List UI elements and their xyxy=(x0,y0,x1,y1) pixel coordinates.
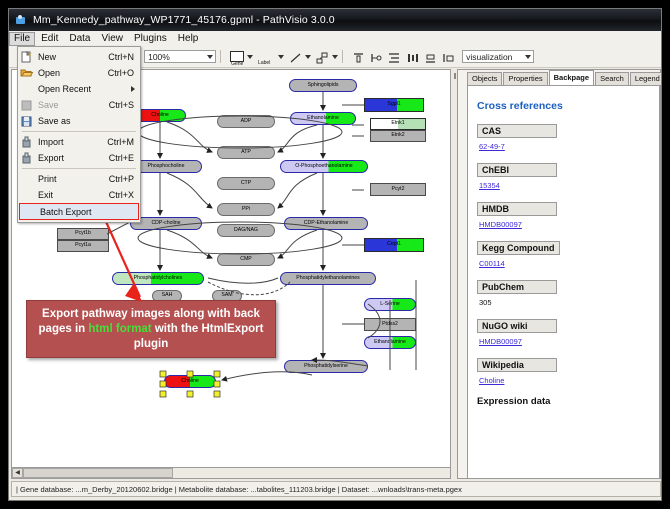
cross-reference-item: WikipediaCholine xyxy=(477,355,659,385)
menu-separator xyxy=(22,131,136,132)
cross-reference-value: 305 xyxy=(479,298,659,307)
menu-item-label: Save xyxy=(38,100,109,110)
file-menu-item-open-recent[interactable]: Open Recent xyxy=(18,81,140,97)
cross-reference-link[interactable]: 62-49-7 xyxy=(479,142,659,151)
menu-item-shortcut: Ctrl+O xyxy=(108,68,140,78)
menu-view[interactable]: View xyxy=(96,32,128,46)
cross-reference-source: PubChem xyxy=(477,280,557,294)
pathway-node-label: CDP-Ethanolamine xyxy=(304,221,348,226)
cross-reference-item: Kegg CompoundC00114 xyxy=(477,238,659,268)
tab-search[interactable]: Search xyxy=(595,72,629,85)
cross-reference-list: CAS62-49-7ChEBI15354HMDBHMDB00097Kegg Co… xyxy=(468,121,659,385)
pathway-node-label: Choline xyxy=(151,113,169,118)
pathway-node[interactable]: Etnk2 xyxy=(370,130,426,142)
menu-item-shortcut: Ctrl+E xyxy=(109,153,140,163)
pathway-node-label: Etnk2 xyxy=(391,133,404,138)
pathway-node-label: Cept1 xyxy=(387,242,401,247)
menu-item-label: Import xyxy=(38,137,107,147)
application-window: Mm_Kennedy_pathway_WP1771_45176.gpml - P… xyxy=(8,8,662,501)
cross-reference-source: ChEBI xyxy=(477,163,557,177)
pathway-node-label: CDP-choline xyxy=(151,221,180,226)
window-title: Mm_Kennedy_pathway_WP1771_45176.gpml - P… xyxy=(33,14,335,26)
cross-reference-link[interactable]: HMDB00097 xyxy=(479,337,659,346)
expression-data-title: Expression data xyxy=(477,396,659,407)
no-icon xyxy=(20,173,35,186)
pathway-node-label: Pcyt1b xyxy=(75,231,91,236)
pathway-node[interactable]: Phosphatidylcholines xyxy=(112,272,204,285)
align-left-button[interactable] xyxy=(370,51,383,63)
cross-reference-link[interactable]: Choline xyxy=(479,376,659,385)
pathway-node-label: Ethanolamine xyxy=(374,340,406,345)
annotation-callout: Export pathway images along with back pa… xyxy=(26,300,276,358)
cross-reference-source: Wikipedia xyxy=(477,358,557,372)
pathway-node-label: L-Serine xyxy=(380,302,400,307)
chevron-down-icon[interactable] xyxy=(247,55,253,59)
cross-references-title: Cross references xyxy=(477,100,659,112)
pathway-node[interactable]: Pcyt1b xyxy=(57,228,109,240)
cross-reference-item: HMDBHMDB00097 xyxy=(477,199,659,229)
align-center-icon xyxy=(406,51,419,63)
scroll-left-button[interactable]: ◀ xyxy=(12,468,23,478)
import-icon xyxy=(20,136,35,149)
file-menu-item-import[interactable]: ImportCtrl+M xyxy=(18,134,140,150)
cross-reference-item: CAS62-49-7 xyxy=(477,121,659,151)
zoom-value: 100% xyxy=(148,52,170,62)
align-bottom-button[interactable] xyxy=(424,51,437,63)
open-folder-icon xyxy=(20,67,35,80)
chevron-down-icon[interactable] xyxy=(278,55,284,59)
save-icon xyxy=(20,99,35,112)
pathway-node-label: Choline xyxy=(181,379,199,384)
cross-reference-item: NuGO wikiHMDB00097 xyxy=(477,316,659,346)
menu-item-shortcut: Ctrl+S xyxy=(109,100,140,110)
cross-reference-item: PubChem305 xyxy=(477,277,659,307)
file-menu-item-export[interactable]: ExportCtrl+E xyxy=(18,150,140,166)
callout-text: Export pathway images along with back pa… xyxy=(33,307,269,352)
pathway-node[interactable]: Pcyt1a xyxy=(57,240,109,252)
menu-file[interactable]: File xyxy=(9,32,35,46)
pathway-node[interactable]: ADP xyxy=(217,115,275,128)
datanode-icon: Gene xyxy=(230,51,244,62)
pathway-node[interactable]: Cept1 xyxy=(364,238,424,252)
pathway-node[interactable]: Ethanolamine xyxy=(364,336,416,349)
tab-objects[interactable]: Objects xyxy=(467,72,502,85)
backpage-content: Cross references CAS62-49-7ChEBI15354HMD… xyxy=(467,85,660,479)
menu-item-label: Export xyxy=(38,153,109,163)
pathway-node-label: PPi xyxy=(242,207,250,212)
menu-item-label: Batch Export xyxy=(40,207,132,217)
menu-data[interactable]: Data xyxy=(64,32,95,46)
chevron-down-icon xyxy=(207,55,213,59)
pathway-node-label: Etnk1 xyxy=(391,121,404,126)
cross-reference-source: Kegg Compound xyxy=(477,241,560,255)
common-width-icon xyxy=(442,51,455,63)
pathway-node[interactable]: CTP xyxy=(217,177,275,190)
chevron-down-icon[interactable] xyxy=(305,55,311,59)
visualization-combobox[interactable]: visualization xyxy=(462,50,534,63)
pathway-node-label: ATP xyxy=(241,150,251,155)
line-icon xyxy=(289,51,302,63)
no-icon xyxy=(20,189,35,202)
pathway-node[interactable]: Pcyt2 xyxy=(370,183,426,196)
align-stack-button[interactable] xyxy=(388,51,401,63)
file-menu-dropdown[interactable]: NewCtrl+NOpenCtrl+OOpen RecentSaveCtrl+S… xyxy=(17,46,141,223)
menu-item-label: Exit xyxy=(38,190,109,200)
menu-help[interactable]: Help xyxy=(173,32,204,46)
pathway-node-label: Phosphocholine xyxy=(148,164,185,169)
pathway-node-label: SAH xyxy=(162,293,173,298)
align-stack-icon xyxy=(388,51,401,63)
menu-separator xyxy=(22,168,136,169)
file-menu-item-print[interactable]: PrintCtrl+P xyxy=(18,171,140,187)
file-menu-item-new[interactable]: NewCtrl+N xyxy=(18,49,140,65)
pathway-node[interactable]: Sphingolipids xyxy=(289,79,357,92)
save-as-icon xyxy=(20,115,35,128)
pathway-node[interactable]: PPi xyxy=(217,203,275,216)
pathway-node-label: O-Phosphoethanolamine xyxy=(295,164,352,169)
pathway-node-label: Pcyt1a xyxy=(75,243,91,248)
menu-item-label: Save as xyxy=(38,116,134,126)
align-top-button[interactable] xyxy=(352,51,365,63)
pathway-node-label: Phosphatidylethanolamines xyxy=(296,276,359,281)
pathway-node-label: SAM xyxy=(221,293,232,298)
chevron-down-icon[interactable] xyxy=(332,55,338,59)
datanode-tool-button[interactable]: Gene xyxy=(230,51,253,62)
shape-icon xyxy=(316,51,329,63)
side-panel: Objects Properties Backpage Search Legen… xyxy=(457,69,661,479)
new-file-icon xyxy=(20,51,35,64)
menu-item-shortcut: Ctrl+P xyxy=(109,174,140,184)
file-menu-item-save-as[interactable]: Save as xyxy=(18,113,140,129)
cross-reference-item: ChEBI15354 xyxy=(477,160,659,190)
scrollbar-thumb[interactable] xyxy=(23,468,173,478)
line-tool-button[interactable] xyxy=(289,51,311,63)
canvas-horizontal-scrollbar[interactable]: ◀ xyxy=(11,467,451,479)
common-width-button[interactable] xyxy=(442,51,455,63)
no-icon xyxy=(22,205,37,218)
callout-text-highlight: html format xyxy=(88,323,151,335)
pathway-node[interactable]: Phosphatidylethanolamines xyxy=(280,272,376,285)
pathway-node[interactable]: L-Serine xyxy=(364,298,416,311)
toolbar-separator xyxy=(220,50,221,63)
cross-reference-source: CAS xyxy=(477,124,557,138)
cross-reference-link[interactable]: HMDB00097 xyxy=(479,220,659,229)
label-tool-button[interactable]: Label xyxy=(258,51,284,63)
zoom-combobox[interactable]: 100% xyxy=(144,50,216,63)
align-bottom-icon xyxy=(424,51,437,63)
cross-reference-link[interactable]: C00114 xyxy=(479,259,659,268)
pathway-node-label: Ethanolamine xyxy=(307,116,339,121)
tab-legend[interactable]: Legend xyxy=(630,72,662,85)
pathvisio-icon xyxy=(15,14,27,26)
tab-properties[interactable]: Properties xyxy=(503,72,547,85)
pathway-node-label: CTP xyxy=(241,181,251,186)
chevron-right-icon xyxy=(131,86,135,92)
menu-item-label: New xyxy=(38,52,108,62)
menu-item-label: Print xyxy=(38,174,109,184)
pathway-node[interactable]: O-Phosphoethanolamine xyxy=(280,160,368,173)
export-icon xyxy=(20,152,35,165)
pathway-node[interactable]: CDP-Ethanolamine xyxy=(284,217,368,230)
visualization-value: visualization xyxy=(466,52,512,62)
title-bar: Mm_Kennedy_pathway_WP1771_45176.gpml - P… xyxy=(9,9,661,31)
menu-item-shortcut: Ctrl+M xyxy=(107,137,140,147)
pathway-node[interactable]: DAG/NAG xyxy=(217,224,275,237)
menu-plugins[interactable]: Plugins xyxy=(129,32,172,46)
status-bar: | Gene database: ...m_Derby_20120602.bri… xyxy=(11,481,661,497)
status-text: | Gene database: ...m_Derby_20120602.bri… xyxy=(16,485,462,494)
toolbar-separator xyxy=(342,50,343,63)
menu-edit[interactable]: Edit xyxy=(36,32,63,46)
pathway-node-label: ADP xyxy=(241,119,252,124)
pathway-node-label: Sphingolipids xyxy=(308,83,339,88)
pathway-node[interactable]: Choline xyxy=(164,375,216,388)
pathway-node[interactable]: Phosphatidylserine xyxy=(284,360,368,373)
menu-item-shortcut: Ctrl+X xyxy=(109,190,140,200)
align-left-icon xyxy=(370,51,383,63)
chevron-down-icon xyxy=(525,55,531,59)
pathway-node[interactable]: Ptdss2 xyxy=(364,318,416,331)
pathway-node[interactable]: ATP xyxy=(217,146,275,159)
align-center-button[interactable] xyxy=(406,51,419,63)
tab-backpage[interactable]: Backpage xyxy=(549,70,594,85)
file-menu-item-open[interactable]: OpenCtrl+O xyxy=(18,65,140,81)
align-top-icon xyxy=(352,51,365,63)
menu-bar: File Edit Data View Plugins Help xyxy=(9,31,661,47)
menu-item-shortcut: Ctrl+N xyxy=(108,52,140,62)
pathway-node[interactable]: Sgpl1 xyxy=(364,98,424,112)
menu-item-label: Open Recent xyxy=(38,84,134,94)
cross-reference-source: HMDB xyxy=(477,202,557,216)
pathway-node-label: Phosphatidylserine xyxy=(304,364,348,369)
pathway-node-label: DAG/NAG xyxy=(234,228,258,233)
pathway-node-label: Pcyt2 xyxy=(392,187,405,192)
pathway-node[interactable]: CMP xyxy=(217,253,275,266)
pathway-node[interactable]: Etnk1 xyxy=(370,118,426,130)
pathway-node-label: CMP xyxy=(240,257,252,262)
file-menu-item-save: SaveCtrl+S xyxy=(18,97,140,113)
pathway-node[interactable]: Ethanolamine xyxy=(290,112,356,125)
shape-tool-button[interactable] xyxy=(316,51,338,63)
file-menu-item-exit[interactable]: ExitCtrl+X xyxy=(18,187,140,203)
pathway-node-label: Ptdss2 xyxy=(382,322,398,327)
side-panel-tabs: Objects Properties Backpage Search Legen… xyxy=(458,70,660,85)
pathway-node-label: Sgpl1 xyxy=(387,102,400,107)
menu-item-label: Open xyxy=(38,68,108,78)
cross-reference-link[interactable]: 15354 xyxy=(479,181,659,190)
pathway-node[interactable]: Choline xyxy=(134,109,186,122)
callout-text-after: with the HtmlExport plugin xyxy=(134,323,264,350)
screenshot-root: Mm_Kennedy_pathway_WP1771_45176.gpml - P… xyxy=(0,0,670,509)
pathway-node-label: Phosphatidylcholines xyxy=(134,276,183,281)
label-icon: Label xyxy=(258,51,275,63)
file-menu-item-batch-export[interactable]: Batch Export xyxy=(19,203,139,220)
cross-reference-source: NuGO wiki xyxy=(477,319,557,333)
no-icon xyxy=(20,83,35,96)
